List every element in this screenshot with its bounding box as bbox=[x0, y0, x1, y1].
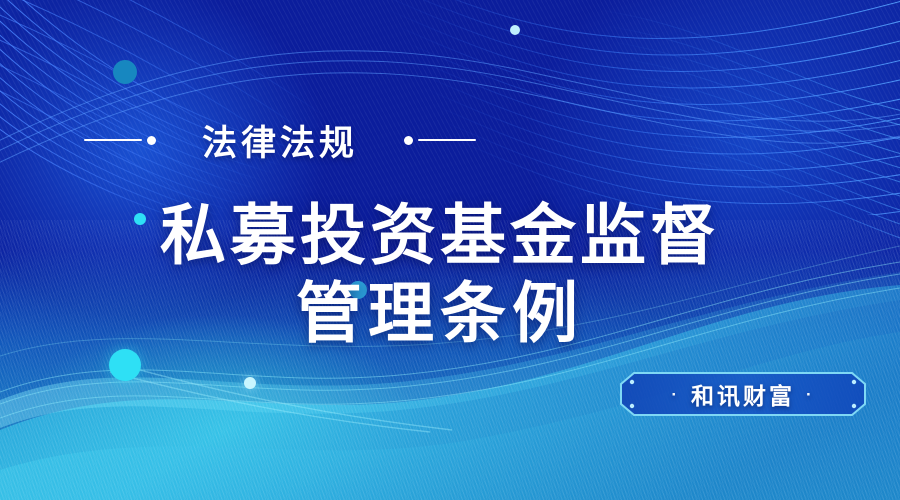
dot-white-tiny-top-icon bbox=[510, 25, 520, 35]
dot-cyan-bottom-left-icon bbox=[109, 349, 141, 381]
dot-blue-top-left-icon bbox=[113, 60, 137, 84]
kicker-label: 法律法规 bbox=[202, 115, 358, 166]
title-line-2: 管理条例 bbox=[0, 274, 880, 352]
ornament-left-dot bbox=[147, 136, 156, 145]
badge-separator-right: · bbox=[806, 386, 815, 403]
ornament-right bbox=[404, 136, 476, 145]
brand-badge: · 和讯财富 · bbox=[620, 372, 866, 416]
badge-separator-left: · bbox=[671, 386, 680, 403]
kicker-row: 法律法规 bbox=[0, 112, 560, 168]
title-line-1: 私募投资基金监督 bbox=[0, 196, 880, 274]
dot-white-small-icon bbox=[244, 377, 256, 389]
title-block: 私募投资基金监督 管理条例 bbox=[0, 196, 880, 352]
ornament-left bbox=[84, 136, 156, 145]
ornament-right-line bbox=[418, 139, 476, 141]
badge-label: 和讯财富 bbox=[691, 377, 795, 411]
ornament-right-dot bbox=[404, 136, 413, 145]
ornament-left-line bbox=[84, 139, 142, 141]
brand-badge-content: · 和讯财富 · bbox=[620, 372, 866, 416]
legal-regulation-banner: 法律法规 私募投资基金监督 管理条例 · bbox=[0, 0, 900, 500]
